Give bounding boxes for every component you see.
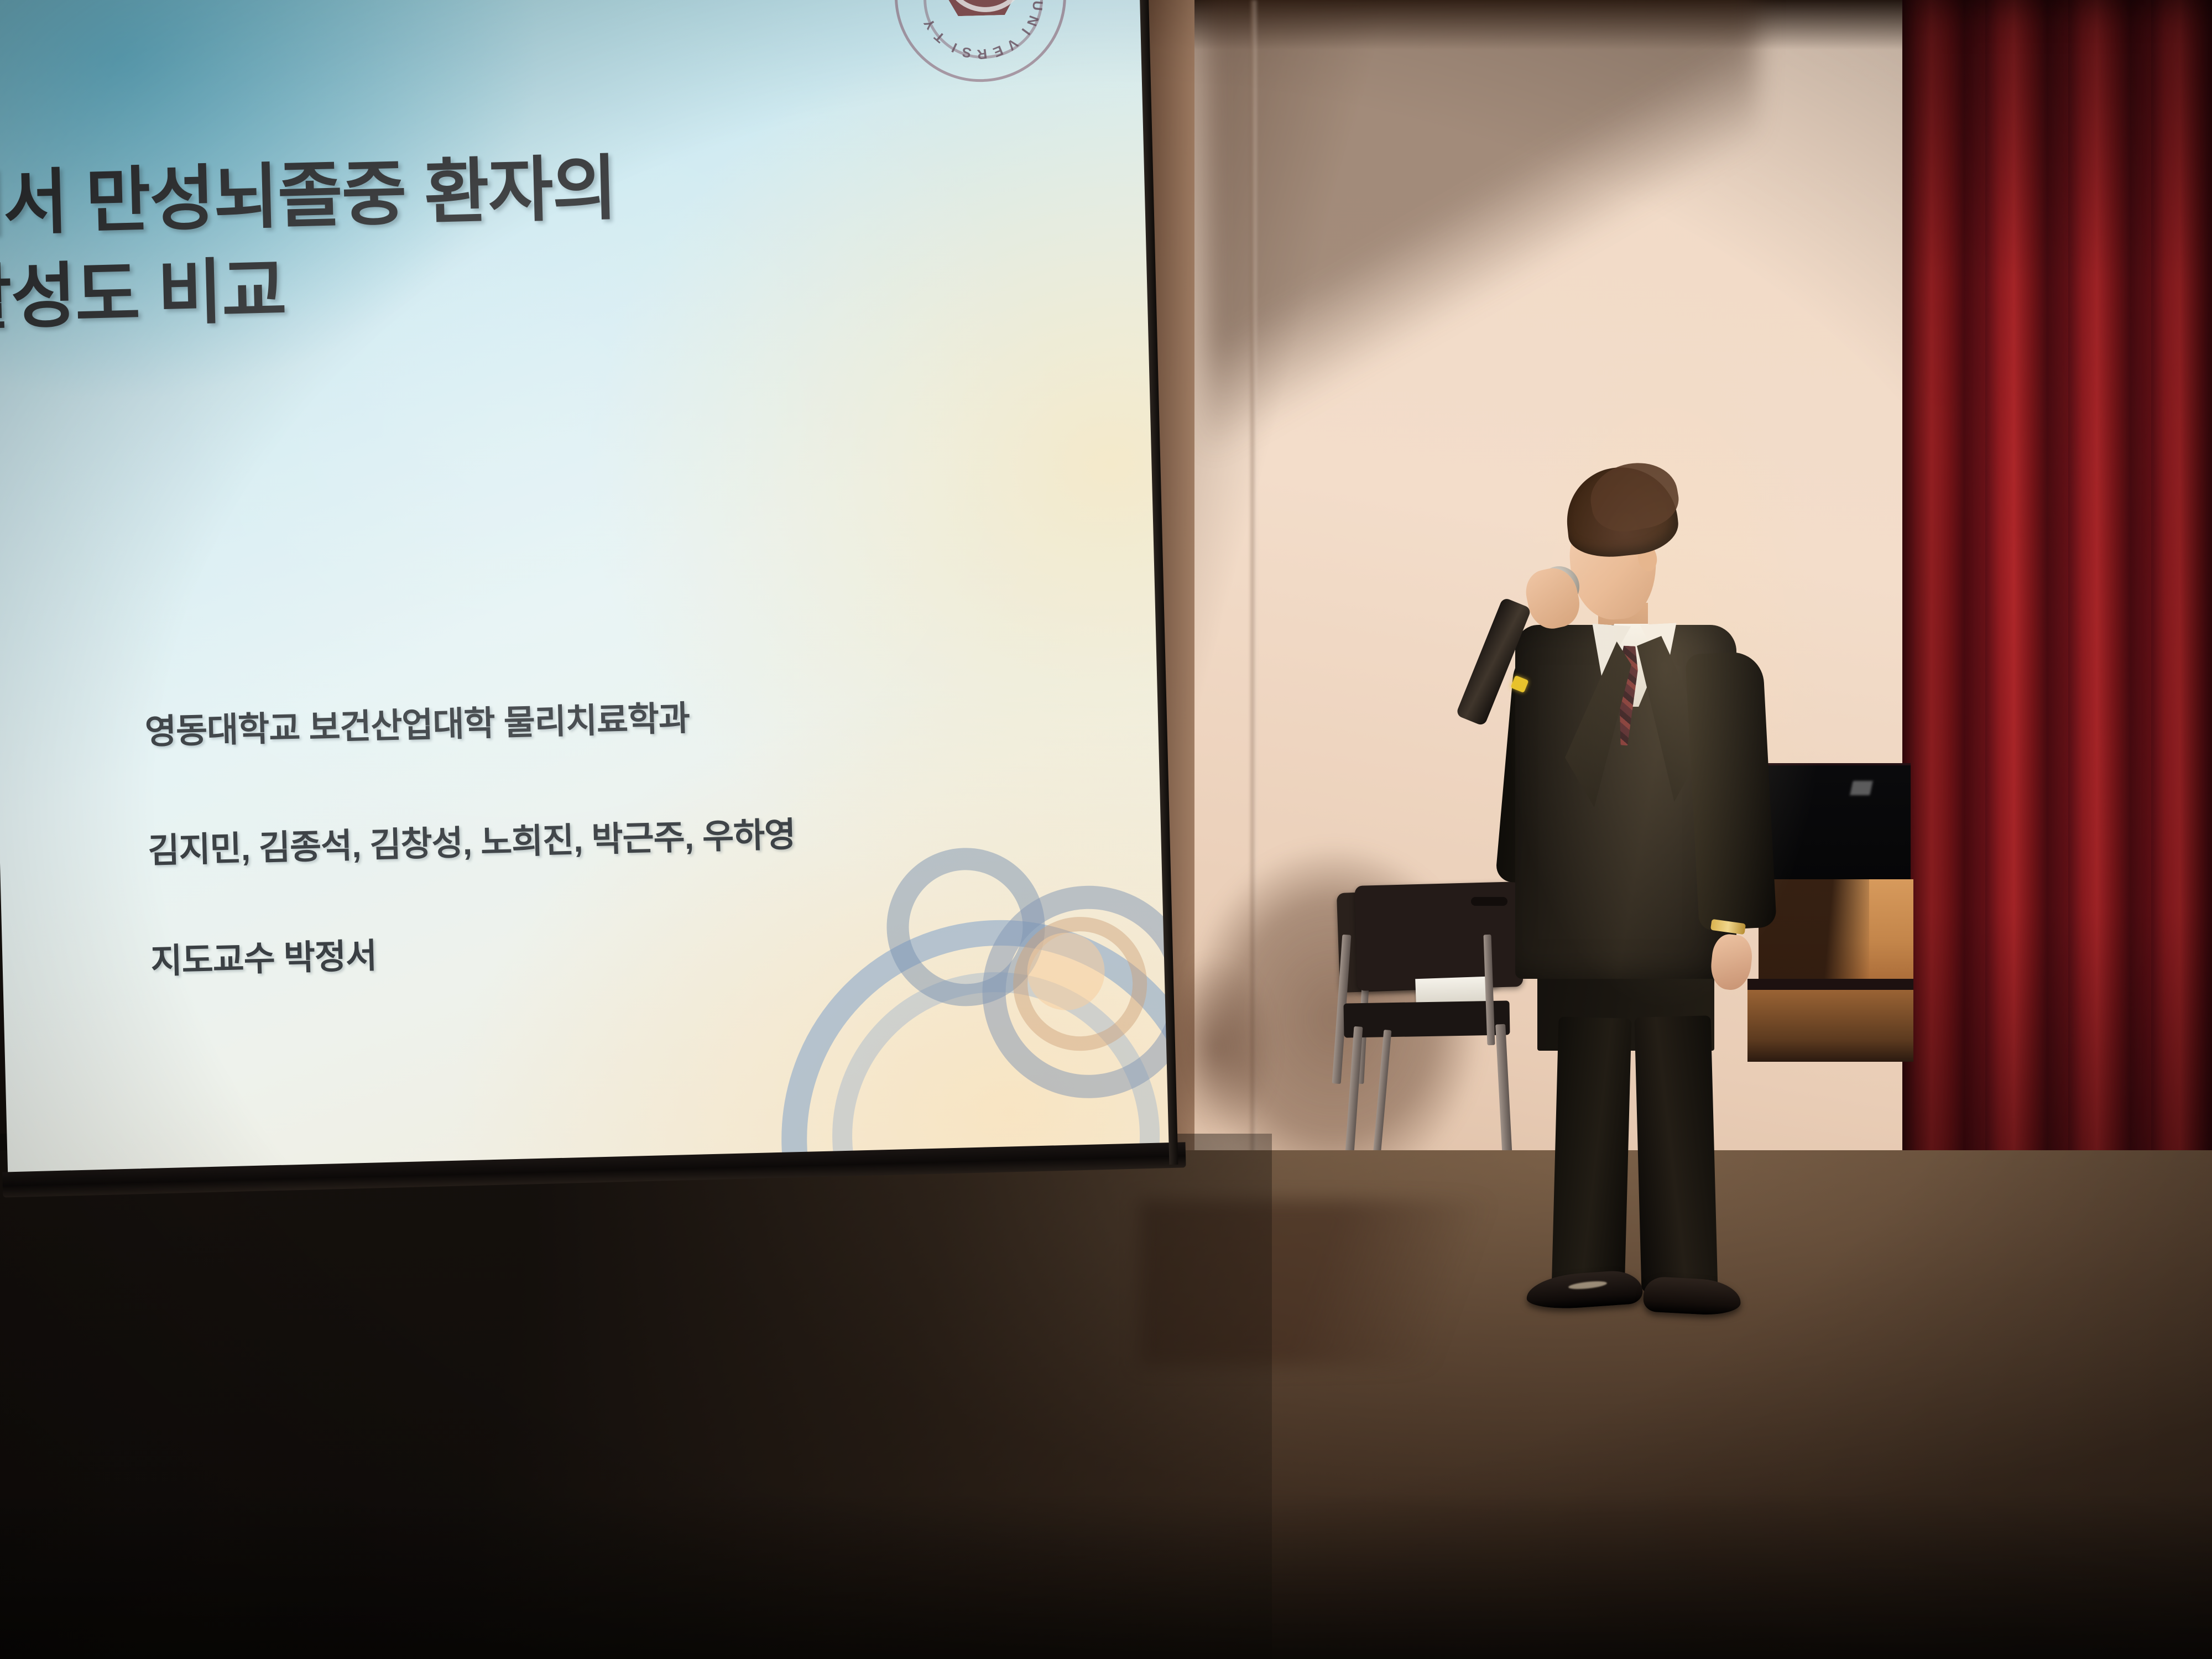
slide-authors: 김지민, 김종석, 김창성, 노희진, 박근주, 우하영 xyxy=(147,806,796,873)
chair-back-handle xyxy=(1471,897,1507,906)
chair-seat xyxy=(1343,1000,1510,1037)
logo-wordmark: YOUNGDONG UNIVERSITY xyxy=(893,0,1068,84)
presenter-left-leg xyxy=(1551,1016,1631,1295)
wall-diagonal-shadow xyxy=(1206,0,1759,453)
logo-wordmark-char: V xyxy=(1002,35,1020,54)
slide-title-line-2: 활성도 비교 xyxy=(0,233,286,343)
presenter-right-arm xyxy=(1685,651,1777,931)
slide-surface: YOUNGDONG UNIVERSITY 에서 만성뇌졸중 환자의 활성도 비교… xyxy=(0,0,1175,1186)
logo-wordmark-char: U xyxy=(1029,0,1046,13)
projection-screen: YOUNGDONG UNIVERSITY 에서 만성뇌졸중 환자의 활성도 비교… xyxy=(0,0,1186,1205)
youngdong-university-logo: YOUNGDONG UNIVERSITY xyxy=(893,0,1068,84)
wooden-base xyxy=(1747,990,1913,1062)
slide-advisor: 지도교수 박정서 xyxy=(150,927,377,983)
logo-wordmark-char: S xyxy=(959,43,973,61)
monitor-glint xyxy=(1850,781,1873,795)
black-monitor-panel xyxy=(1764,763,1911,884)
presenter-right-leg xyxy=(1634,1015,1718,1293)
curtain-shading xyxy=(1902,0,2212,1305)
logo-wordmark-char: Y xyxy=(920,14,940,32)
slide-title-line-1: 에서 만성뇌졸중 환자의 xyxy=(0,131,617,250)
slide-affiliation: 영동대학교 보건산업대학 물리치료학과 xyxy=(144,690,690,754)
floor-bottom-falloff xyxy=(0,1493,2212,1659)
logo-wordmark-char: T xyxy=(930,27,948,46)
logo-wordmark-char: N xyxy=(1022,13,1041,30)
logo-wordmark-char: R xyxy=(974,45,988,62)
presentation-photo-scene: YOUNGDONG UNIVERSITY 에서 만성뇌졸중 환자의 활성도 비교… xyxy=(0,0,2212,1659)
logo-wordmark-char: E xyxy=(989,41,1005,60)
logo-wordmark-char: I xyxy=(948,39,959,55)
